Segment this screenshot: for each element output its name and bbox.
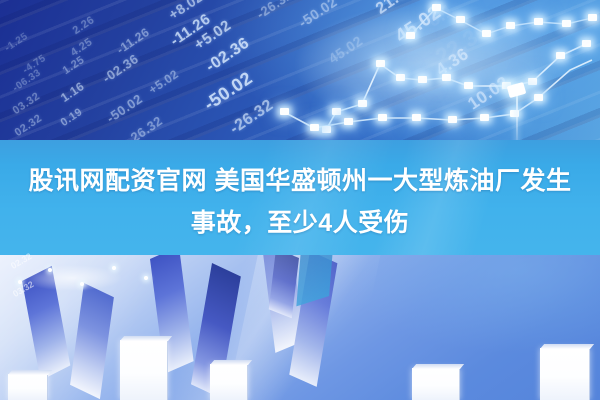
chart-node (464, 82, 473, 89)
ticker-value: -50.02 (104, 91, 145, 126)
line-chart-overlay (270, 0, 600, 135)
sparkle-dot (48, 268, 52, 272)
chart-node (378, 114, 387, 121)
chart-node (556, 52, 565, 59)
chart-node (358, 100, 367, 107)
chart-node (432, 4, 441, 11)
chart-node (406, 32, 415, 39)
chart-node (322, 126, 331, 133)
chart-node (456, 16, 465, 23)
chart-node (396, 74, 405, 81)
bar-column (8, 374, 48, 400)
chart-node (506, 22, 515, 29)
chart-node (534, 18, 543, 25)
chart-node (480, 114, 489, 121)
chart-node (332, 108, 341, 115)
chart-node (482, 30, 491, 37)
ticker-value: 2.26 (71, 14, 97, 37)
chart-node (412, 114, 421, 121)
chart-node (562, 20, 571, 27)
chart-node (448, 116, 457, 123)
chart-node (588, 14, 597, 21)
bar-column (412, 368, 460, 400)
chart-node (582, 40, 591, 47)
ticker-value: 1.16 (58, 79, 87, 105)
bar-column (540, 348, 590, 400)
chart-node (534, 94, 543, 101)
chart-node (344, 118, 353, 125)
bar-column (210, 364, 248, 400)
chart-node (280, 108, 289, 115)
bar-column (120, 340, 168, 400)
sparkle-dot (80, 282, 84, 286)
line-chart-svg (270, 0, 600, 140)
chart-node (528, 78, 537, 85)
chart-node (310, 124, 319, 131)
ticker-value: 0.19 (59, 106, 85, 129)
sparkle-dot (144, 276, 148, 280)
headline-line-1: 股讯网配资官网 美国华盛顿州一大型炼油厂发生 (0, 160, 600, 202)
sparkle-network (8, 258, 168, 298)
sparkle-dot (112, 266, 116, 270)
news-banner: 45.02 4.36 10.02 21.36 22.35 8.1 -02.36 … (0, 0, 600, 400)
headline-line-2: 事故，至少4人受伤 (0, 202, 600, 244)
chart-node (442, 74, 451, 81)
ticker-value: -1.25 (3, 31, 30, 54)
ticker-value: +5.02 (146, 67, 181, 97)
chart-node (376, 60, 385, 67)
page-title: 股讯网配资官网 美国华盛顿州一大型炼油厂发生 事故，至少4人受伤 (0, 160, 600, 244)
chart-node (418, 76, 427, 83)
